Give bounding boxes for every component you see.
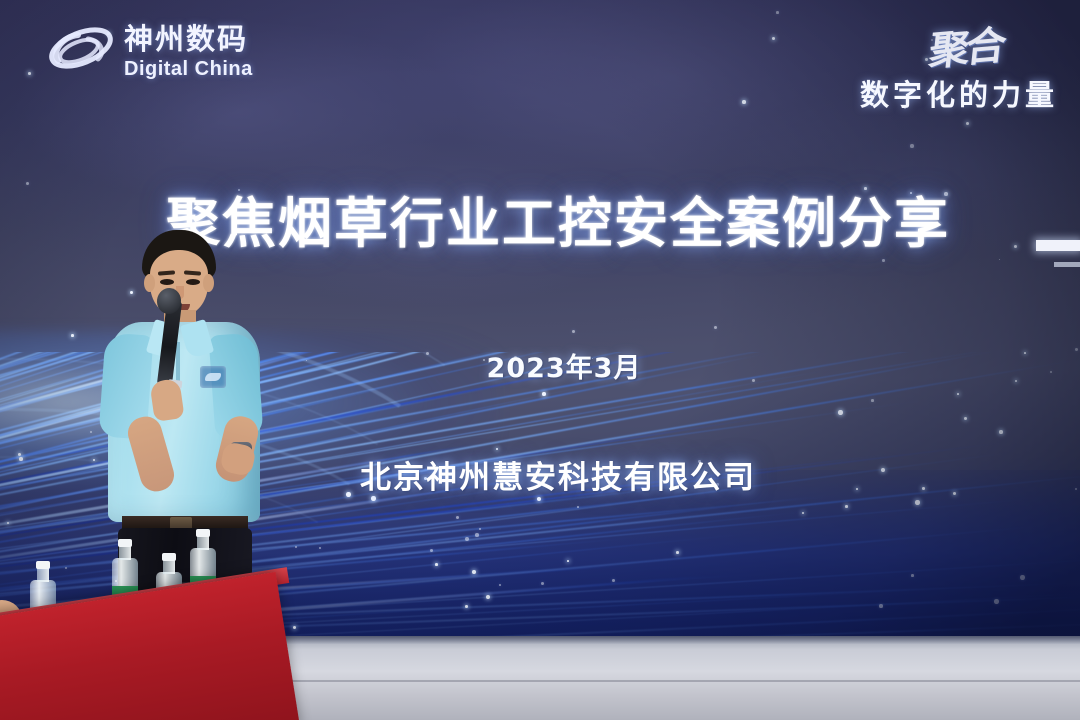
presenter-shirt-placket [176, 342, 180, 384]
presenter-eye-right [186, 279, 200, 285]
digital-china-logo: 神州数码 Digital China [44, 14, 274, 90]
brand-name-english: Digital China [124, 59, 253, 79]
theme-calligraphy: 聚合 [926, 13, 1005, 77]
screen-edge-highlight-secondary [1054, 262, 1080, 267]
screen-edge-highlight [1036, 240, 1080, 251]
conference-stage-photo: 神州数码 Digital China 聚合 数字化的力量 聚焦烟草行业工控安全案… [0, 0, 1080, 720]
brand-name-chinese: 神州数码 [124, 25, 253, 54]
digital-china-spiral-icon [44, 21, 116, 83]
presenter-ear-left [144, 274, 155, 292]
chest-logo-patch-icon [200, 366, 226, 388]
digital-china-wordmark: 神州数码 Digital China [124, 25, 253, 79]
event-theme-logo: 聚合 数字化的力量 [808, 16, 1058, 120]
theme-subtitle: 数字化的力量 [808, 72, 1058, 114]
presenter-ear-right [203, 274, 214, 292]
presenter-eye-left [160, 279, 174, 285]
